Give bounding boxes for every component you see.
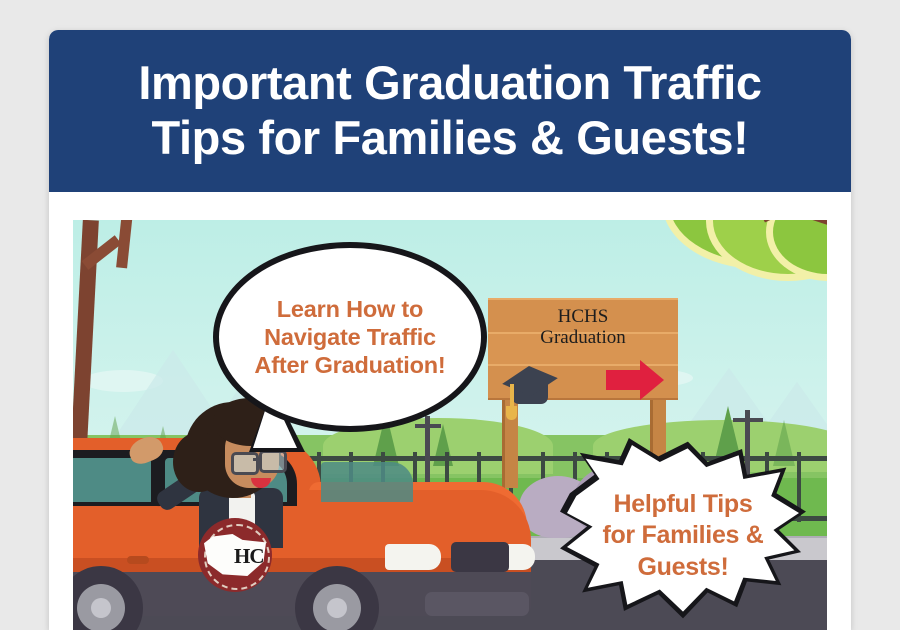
article-card: Important Graduation Traffic Tips for Fa… — [49, 30, 851, 630]
speech-bubble-text: Learn How to Navigate Traffic After Grad… — [234, 295, 465, 380]
driver-glasses-bridge — [253, 458, 260, 461]
red-arrow-head — [640, 360, 664, 400]
driver-glasses-right-lens — [259, 450, 287, 473]
wooden-graduation-sign: HCHS Graduation — [488, 298, 678, 416]
car-windshield — [321, 462, 413, 502]
starburst-text: Helpful Tips for Families & Guests! — [567, 489, 799, 583]
orange-car — [73, 438, 543, 630]
seal-monogram: HC — [234, 544, 264, 569]
utility-pole-arm — [733, 418, 763, 422]
starburst-line-3: Guests! — [567, 552, 799, 583]
starburst-bubble: Helpful Tips for Families & Guests! — [567, 445, 799, 615]
driver-hair — [173, 432, 225, 492]
page-title-line-1: Important Graduation Traffic — [138, 56, 761, 111]
hc-seal-logo: HC — [198, 518, 272, 592]
starburst-line-2: for Families & — [567, 520, 799, 551]
driver-glasses-left-lens — [231, 452, 259, 475]
speech-bubble-line-3: After Graduation! — [254, 351, 445, 379]
car-headlight — [385, 544, 441, 570]
sign-text-line-2: Graduation — [488, 327, 678, 348]
page-root: Important Graduation Traffic Tips for Fa… — [0, 0, 900, 600]
car-wheel-hub — [91, 598, 111, 618]
car-door-handle — [127, 556, 149, 564]
car-rear-window — [73, 458, 151, 502]
starburst-line-1: Helpful Tips — [567, 489, 799, 520]
page-title-line-2: Tips for Families & Guests! — [138, 111, 761, 166]
speech-bubble-line-1: Learn How to — [254, 295, 445, 323]
sign-text: HCHS Graduation — [488, 306, 678, 349]
illustration-scene: HCHS Graduation — [73, 220, 827, 630]
sign-text-line-1: HCHS — [488, 306, 678, 327]
car-wheel-hub — [327, 598, 347, 618]
page-title: Important Graduation Traffic Tips for Fa… — [120, 56, 779, 166]
car-bumper — [425, 592, 529, 616]
graduation-traffic-illustration: HCHS Graduation — [73, 220, 827, 630]
page-header-banner: Important Graduation Traffic Tips for Fa… — [49, 30, 851, 192]
speech-bubble-oval: Learn How to Navigate Traffic After Grad… — [213, 242, 487, 432]
utility-pole-arm — [415, 424, 441, 428]
car-headlight — [505, 544, 535, 570]
speech-bubble-line-2: Navigate Traffic — [254, 323, 445, 351]
car-grille — [451, 542, 509, 572]
graduation-cap-tassel-end — [506, 406, 517, 420]
